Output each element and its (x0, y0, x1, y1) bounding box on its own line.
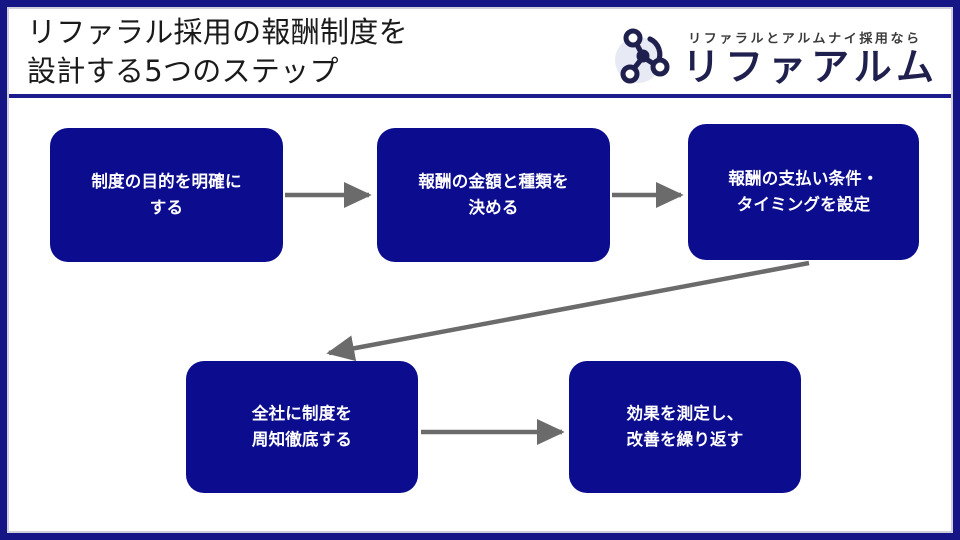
brand-name: リファアルム (682, 48, 939, 86)
flow-node-label: 全社に制度を 周知徹底する (252, 401, 352, 453)
network-nodes-icon (610, 26, 676, 88)
flow-diagram: 制度の目的を明確に する 報酬の金額と種類を 決める 報酬の支払い条件・ タイミ… (9, 98, 951, 531)
page-title: リファラル採用の報酬制度を 設計する5つのステップ (27, 13, 627, 91)
flow-node-step-3[interactable]: 報酬の支払い条件・ タイミングを設定 (688, 124, 919, 260)
brand-logo-text: リファラルとアルムナイ採用なら リファアルム (682, 28, 939, 86)
flow-node-step-5[interactable]: 効果を測定し、 改善を繰り返す (569, 361, 801, 493)
flow-node-label: 報酬の支払い条件・ タイミングを設定 (728, 166, 878, 218)
slide-header: リファラル採用の報酬制度を 設計する5つのステップ (9, 9, 951, 95)
flow-node-label: 制度の目的を明確に する (91, 169, 241, 221)
flow-node-step-1[interactable]: 制度の目的を明確に する (50, 128, 283, 262)
flow-node-label: 効果を測定し、 改善を繰り返す (627, 401, 744, 453)
arrow-step3-step4 (329, 263, 809, 353)
brand-tagline: リファラルとアルムナイ採用なら (688, 28, 922, 46)
flow-node-step-2[interactable]: 報酬の金額と種類を 決める (377, 128, 610, 262)
flow-node-step-4[interactable]: 全社に制度を 周知徹底する (186, 361, 418, 493)
flow-node-label: 報酬の金額と種類を 決める (418, 169, 568, 221)
slide-canvas: リファラル採用の報酬制度を 設計する5つのステップ (0, 0, 960, 540)
brand-logo: リファラルとアルムナイ採用なら リファアルム (610, 21, 939, 93)
